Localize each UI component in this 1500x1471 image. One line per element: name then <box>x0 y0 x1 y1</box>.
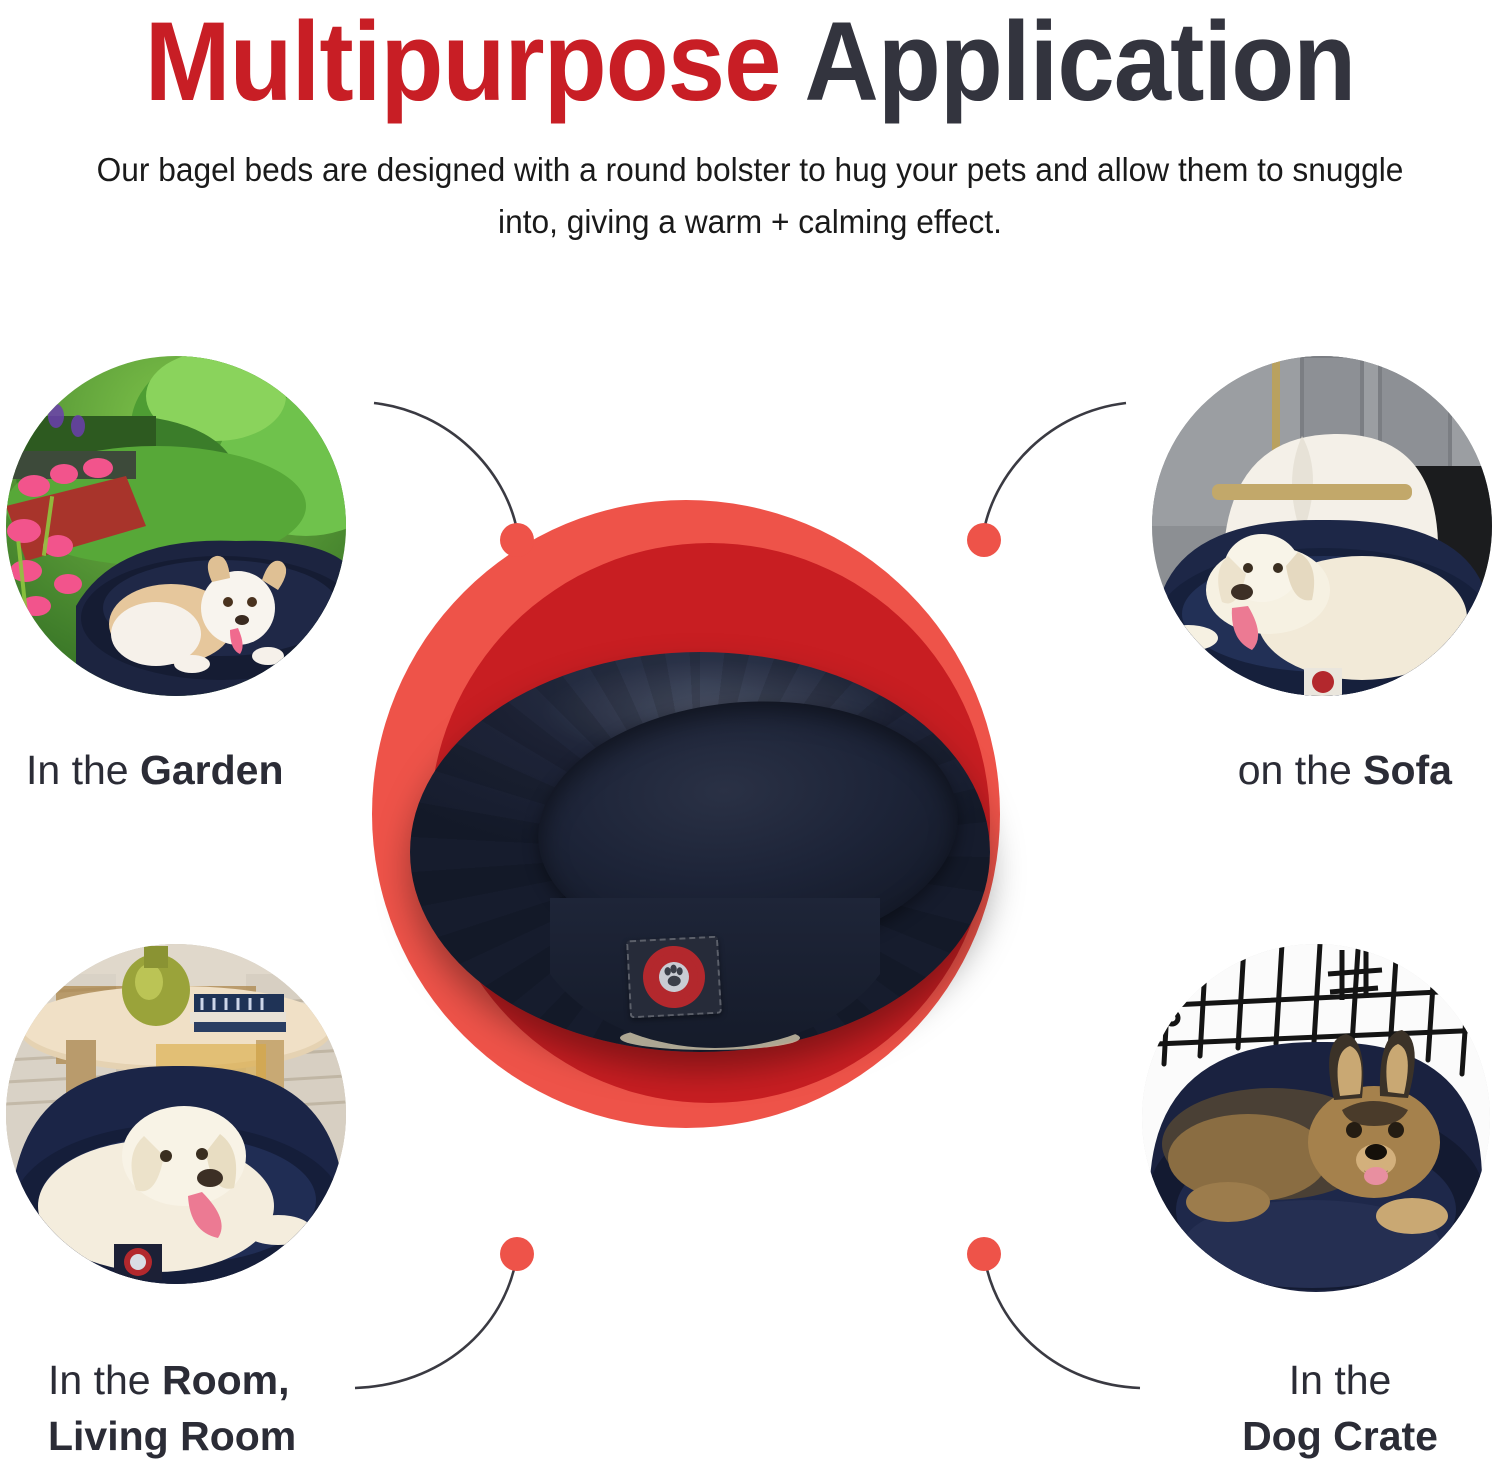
caption-garden: In the Garden <box>26 742 284 798</box>
caption-sofa: on the Sofa <box>1238 742 1452 798</box>
page-title: Multipurpose Application <box>60 0 1440 118</box>
caption-dog-crate-line1: In the <box>1242 1352 1438 1408</box>
page-subtitle: Our bagel beds are designed with a round… <box>83 144 1417 248</box>
caption-living-room: In the Room, Living Room <box>48 1352 296 1464</box>
callout-photo-sofa <box>1152 356 1492 696</box>
caption-living-room-prefix: In the <box>48 1357 162 1403</box>
title-dark-part: Application <box>781 0 1356 124</box>
sofa-scene-illustration <box>1152 356 1492 696</box>
connector-dot-sofa <box>967 523 1001 557</box>
caption-living-room-line2: Living Room <box>48 1408 296 1464</box>
connector-line-living-room <box>355 1255 517 1388</box>
caption-dog-crate: In the Dog Crate <box>1242 1352 1438 1464</box>
connector-dot-garden <box>500 523 534 557</box>
caption-living-room-line1: In the Room, <box>48 1352 296 1408</box>
callout-photo-dog-crate <box>1142 944 1490 1292</box>
living-room-scene-illustration <box>6 944 346 1284</box>
caption-dog-crate-line2: Dog Crate <box>1242 1408 1438 1464</box>
brand-tag <box>626 936 722 1019</box>
caption-sofa-prefix: on the <box>1238 747 1363 793</box>
brand-tag-badge <box>641 944 706 1009</box>
connector-dot-dog-crate <box>967 1237 1001 1271</box>
garden-scene-illustration <box>6 356 346 696</box>
callout-photo-garden <box>6 356 346 696</box>
caption-living-room-bold: Room, <box>162 1357 290 1403</box>
dog-crate-scene-illustration <box>1142 944 1490 1292</box>
connector-line-dog-crate <box>984 1255 1140 1388</box>
product-image-dog-bed <box>400 630 1000 1100</box>
connector-line-garden <box>374 403 517 530</box>
caption-garden-bold: Garden <box>140 747 284 793</box>
caption-living-room-bold2: Living Room <box>48 1413 296 1459</box>
connector-line-sofa <box>984 403 1126 530</box>
callout-photo-living-room <box>6 944 346 1284</box>
infographic-page: Multipurpose Application Our bagel beds … <box>0 0 1500 1471</box>
paw-print-icon <box>648 951 701 1004</box>
caption-dog-crate-bold2: Dog Crate <box>1242 1413 1438 1459</box>
caption-dog-crate-prefix: In the <box>1289 1357 1392 1403</box>
caption-sofa-bold: Sofa <box>1363 747 1452 793</box>
title-red-part: Multipurpose <box>145 0 781 124</box>
header: Multipurpose Application Our bagel beds … <box>0 0 1500 248</box>
caption-garden-prefix: In the <box>26 747 140 793</box>
connector-dot-living-room <box>500 1237 534 1271</box>
